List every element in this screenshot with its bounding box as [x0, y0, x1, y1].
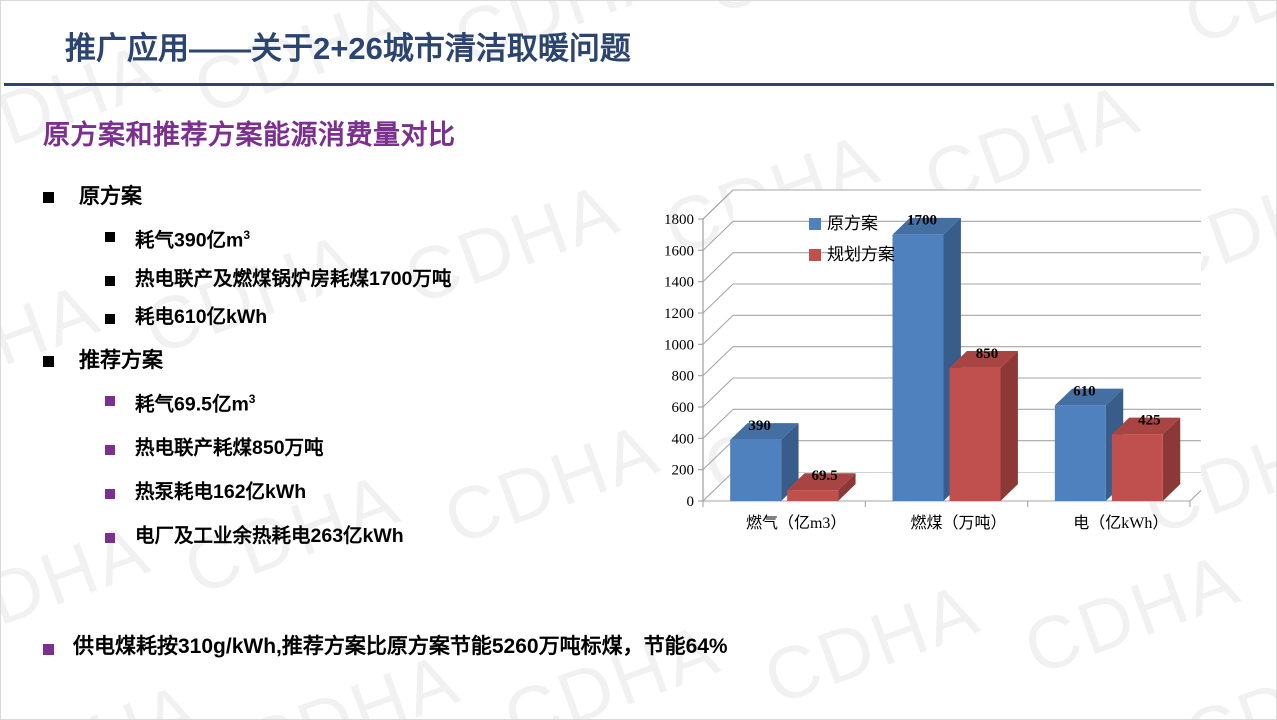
gridline-depth — [703, 441, 733, 470]
bullet-content: 原方案 耗气390亿m3 热电联产及燃煤锅炉房耗煤1700万吨 耗电610亿kW… — [43, 181, 683, 558]
legend-label: 原方案 — [827, 214, 878, 233]
bullet-level2: 耗气390亿m3 — [43, 219, 683, 257]
x-axis-category-label: 燃煤（万吨） — [910, 514, 1006, 532]
x-axis: 燃气（亿m3）燃煤（万吨）电（亿kWh） — [703, 501, 1190, 532]
bullet-square-icon — [105, 432, 135, 460]
bullet-level2: 热电联产及燃煤锅炉房耗煤1700万吨 — [43, 263, 683, 295]
gridline-depth — [703, 347, 733, 376]
bullet-level2-label: 耗电610亿kWh — [135, 301, 267, 333]
gridline-depth — [703, 253, 733, 282]
bullet-level2: 电厂及工业余热耗电263亿kWh — [43, 520, 683, 552]
legend-swatch — [809, 218, 821, 230]
bar-front-face — [893, 235, 944, 501]
bullet-square-icon — [105, 219, 135, 247]
bar-front-face — [730, 440, 781, 501]
bullet-level2-label: 热泵耗电162亿kWh — [135, 476, 306, 508]
watermark-text: CDHA — [1013, 536, 1250, 692]
watermark-text: CDHA — [1, 666, 211, 719]
watermark-text: CDHA — [753, 566, 990, 719]
gridline-depth — [703, 190, 733, 219]
bar-front-face — [787, 490, 838, 501]
legend-swatch — [809, 249, 821, 261]
bar-planned-scheme — [950, 351, 1018, 501]
bullet-square-icon — [105, 383, 135, 411]
legend-label: 规划方案 — [827, 245, 895, 264]
bar-front-face — [950, 368, 1001, 501]
bullet-square-icon — [105, 520, 135, 548]
summary-bullet: 供电煤耗按310g/kWh,推荐方案比原方案节能5260万吨标煤，节能64% — [43, 633, 728, 661]
bar-data-label: 425 — [1138, 412, 1161, 428]
slide: CDHACDHACDHACDHACDHACDHACDHACDHACDHACDHA… — [0, 0, 1277, 720]
bar-planned-scheme — [1112, 418, 1180, 501]
gridline-depth — [703, 284, 733, 313]
title-divider — [4, 83, 1274, 86]
bar-front-face — [1055, 405, 1106, 501]
bullet-level2-label: 热电联产耗煤850万吨 — [135, 432, 324, 464]
bullet-square-icon — [43, 345, 79, 372]
watermark-text: CDHA — [1173, 626, 1276, 719]
bullet-square-icon — [105, 301, 135, 329]
bullet-square-icon — [105, 476, 135, 504]
y-axis-tick-label: 0 — [687, 494, 695, 510]
bullet-level2-label: 热电联产及燃煤锅炉房耗煤1700万吨 — [135, 263, 451, 295]
gridline-depth — [703, 315, 733, 344]
page-title: 推广应用——关于2+26城市清洁取暖问题 — [65, 23, 631, 68]
bar-data-label: 69.5 — [812, 468, 838, 484]
bullet-level1-label: 推荐方案 — [79, 345, 163, 377]
summary-bullet-label: 供电煤耗按310g/kWh,推荐方案比原方案节能5260万吨标煤，节能64% — [73, 633, 728, 661]
section-subtitle: 原方案和推荐方案能源消费量对比 — [43, 113, 456, 152]
bar-side-face — [1001, 351, 1018, 501]
bullet-level2-label: 耗气69.5亿m3 — [135, 383, 255, 421]
bar-data-label: 1700 — [907, 213, 937, 229]
bullet-square-icon — [43, 633, 73, 660]
bullet-level1: 推荐方案 — [43, 345, 683, 377]
energy-consumption-bar-chart: 020040060080010001200140016001800燃气（亿m3）… — [661, 166, 1201, 541]
chart-canvas: 020040060080010001200140016001800燃气（亿m3）… — [661, 166, 1201, 541]
bar-data-label: 850 — [976, 346, 999, 362]
bullet-level2-label: 电厂及工业余热耗电263亿kWh — [135, 520, 404, 552]
watermark-text: CDHA — [493, 606, 730, 719]
bullet-level2: 热电联产耗煤850万吨 — [43, 432, 683, 464]
bullet-level1-label: 原方案 — [79, 181, 142, 213]
bullet-square-icon — [43, 181, 79, 208]
x-axis-category-label: 电（亿kWh） — [1073, 514, 1168, 532]
bullet-level2: 热泵耗电162亿kWh — [43, 476, 683, 508]
gridline-depth — [703, 221, 733, 250]
bullet-level1: 原方案 — [43, 181, 683, 213]
gridline-depth — [703, 409, 733, 438]
bar-data-label: 390 — [748, 418, 771, 434]
bar-data-label: 610 — [1073, 383, 1096, 399]
bullet-level2-label: 耗气390亿m3 — [135, 219, 250, 257]
bullet-square-icon — [105, 263, 135, 291]
x-axis-category-label: 燃气（亿m3） — [746, 514, 846, 532]
bullet-level2: 耗电610亿kWh — [43, 301, 683, 333]
bar-front-face — [1112, 434, 1163, 501]
gridline-depth — [703, 378, 733, 407]
title-bar: 推广应用——关于2+26城市清洁取暖问题 — [1, 1, 1277, 85]
bullet-level2: 耗气69.5亿m3 — [43, 383, 683, 421]
